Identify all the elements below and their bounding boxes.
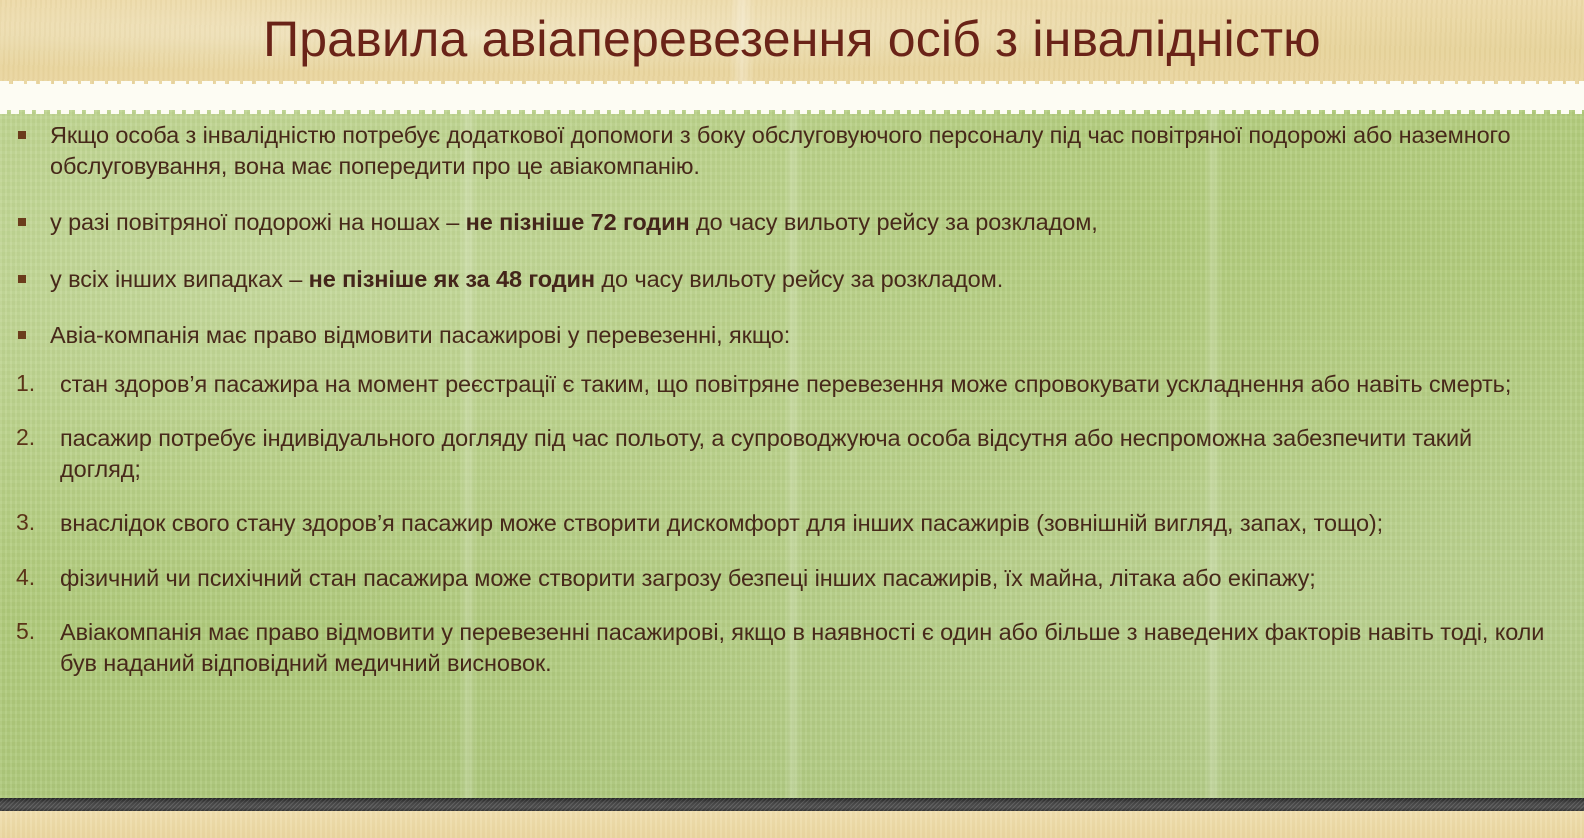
presentation-slide: Правила авіаперевезення осіб з інвалідні… bbox=[0, 0, 1584, 838]
list-item: Авіа-компанія має право відмовити пасажи… bbox=[14, 320, 1556, 351]
list-number: 4. bbox=[14, 563, 60, 593]
content-list: Якщо особа з інвалідністю потребує додат… bbox=[0, 108, 1584, 679]
slide-bottom-strip bbox=[0, 811, 1584, 838]
numbered-list-item: 4. фізичний чи психічний стан пасажира м… bbox=[14, 563, 1556, 594]
list-item: у разі повітряної подорожі на ношах – не… bbox=[14, 207, 1556, 238]
numbered-list-item: 3. внаслідок свого стану здоров’я пасажи… bbox=[14, 508, 1556, 539]
numbered-list-item: 2. пасажир потребує індивідуального догл… bbox=[14, 423, 1556, 484]
numbered-list-item: 1. стан здоров’я пасажира на момент реєс… bbox=[14, 369, 1556, 400]
list-item-text: у разі повітряної подорожі на ношах – не… bbox=[50, 207, 1556, 238]
square-bullet-icon bbox=[14, 264, 50, 283]
torn-paper-divider bbox=[0, 84, 1584, 110]
list-number: 1. bbox=[14, 369, 60, 399]
numbered-list-item: 5. Авіакомпанія має право відмовити у пе… bbox=[14, 617, 1556, 678]
numbered-item-text: пасажир потребує індивідуального догляду… bbox=[60, 423, 1556, 484]
slide-title-band: Правила авіаперевезення осіб з інвалідні… bbox=[0, 0, 1584, 84]
square-bullet-icon bbox=[14, 207, 50, 226]
list-number: 5. bbox=[14, 617, 60, 647]
slide-bottom-bar bbox=[0, 798, 1584, 811]
numbered-item-text: фізичний чи психічний стан пасажира може… bbox=[60, 563, 1556, 594]
list-item: у всіх інших випадках – не пізніше як за… bbox=[14, 264, 1556, 295]
list-item-text: Авіа-компанія має право відмовити пасажи… bbox=[50, 320, 1556, 351]
square-bullet-icon bbox=[14, 120, 50, 139]
square-bullet-icon bbox=[14, 320, 50, 339]
list-item-text: у всіх інших випадках – не пізніше як за… bbox=[50, 264, 1556, 295]
list-number: 3. bbox=[14, 508, 60, 538]
list-item: Якщо особа з інвалідністю потребує додат… bbox=[14, 120, 1556, 181]
list-number: 2. bbox=[14, 423, 60, 453]
numbered-item-text: стан здоров’я пасажира на момент реєстра… bbox=[60, 369, 1556, 400]
numbered-item-text: Авіакомпанія має право відмовити у перев… bbox=[60, 617, 1556, 678]
list-item-text: Якщо особа з інвалідністю потребує додат… bbox=[50, 120, 1556, 181]
slide-content-panel: Якщо особа з інвалідністю потребує додат… bbox=[0, 108, 1584, 798]
numbered-item-text: внаслідок свого стану здоров’я пасажир м… bbox=[60, 508, 1556, 539]
page-title: Правила авіаперевезення осіб з інвалідні… bbox=[223, 13, 1361, 72]
